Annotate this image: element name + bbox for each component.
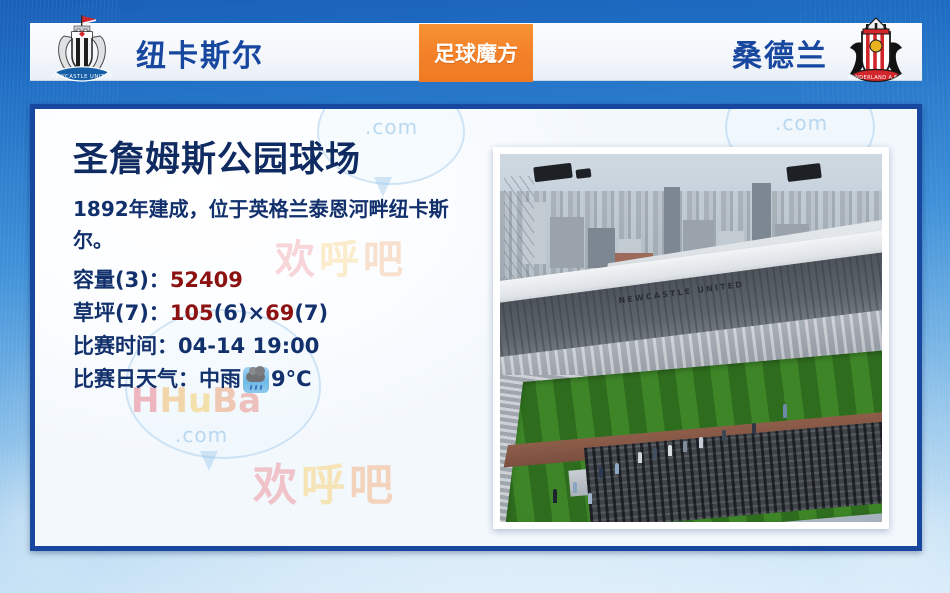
match-time-row: 比赛时间：04-14 19:00 (73, 330, 483, 363)
stadium-info-panel: .com .com HHuBa .com 欢呼吧 欢呼吧 圣詹姆斯公园球场 18… (30, 104, 922, 551)
capacity-label: 容量(3)： (73, 268, 170, 292)
away-team-name: 桑德兰 (732, 31, 828, 75)
weather-temperature: 9°C (271, 363, 312, 396)
pitch-length-rank: (6) (214, 301, 248, 325)
capacity-value: 52409 (170, 268, 243, 292)
watermark-dotcom-top: .com (365, 115, 418, 139)
capacity-row: 容量(3)：52409 (73, 264, 483, 297)
svg-text:SUNDERLAND A.F.C.: SUNDERLAND A.F.C. (847, 75, 904, 81)
rain-cloud-icon (243, 367, 269, 393)
pitch-separator: × (247, 301, 265, 325)
match-time-label: 比赛时间： (73, 334, 178, 358)
weather-label: 比赛日天气： (73, 363, 199, 396)
stadium-info-column: 圣詹姆斯公园球场 1892年建成，位于英格兰泰恩河畔纽卡斯尔。 容量(3)：52… (73, 141, 483, 396)
newcastle-united-crest: NEWCASTLE UNITED (50, 14, 114, 86)
brand-logo[interactable]: 足球魔方 (419, 24, 533, 82)
watermark-huanhuba: 欢呼吧 (253, 449, 397, 513)
pitch-width-rank: (7) (294, 301, 328, 325)
away-team-block[interactable]: 桑德兰 (542, 24, 922, 82)
home-team-name: 纽卡斯尔 (136, 31, 264, 75)
weather-condition: 中雨 (199, 363, 241, 396)
home-team-block[interactable]: NEWCASTLE UNITED 纽卡斯尔 (30, 24, 410, 82)
weather-row: 比赛日天气：中雨9°C (73, 363, 483, 396)
brand-logo-text: 足球魔方 (434, 38, 518, 68)
match-header-bar: NEWCASTLE UNITED 纽卡斯尔 足球魔方 桑德兰 (30, 23, 922, 81)
stadium-title: 圣詹姆斯公园球场 (73, 141, 483, 180)
watermark-dotcom-left: .com (175, 423, 228, 447)
st-james-park-photo[interactable]: NEWCASTLE UNITED (493, 147, 889, 529)
page-root: NEWCASTLE UNITED 纽卡斯尔 足球魔方 桑德兰 (0, 0, 950, 593)
sunderland-afc-crest: SUNDERLAND A.F.C. (844, 14, 908, 86)
stadium-description: 1892年建成，位于英格兰泰恩河畔纽卡斯尔。 (73, 194, 473, 256)
pitch-size-row: 草坪(7)：105(6)×69(7) (73, 297, 483, 330)
watermark-dotcom-right: .com (775, 111, 828, 135)
pitch-length: 105 (170, 301, 214, 325)
match-time-value: 04-14 19:00 (178, 334, 319, 358)
pitch-width: 69 (265, 301, 294, 325)
pitch-label: 草坪(7)： (73, 301, 170, 325)
svg-text:NEWCASTLE UNITED: NEWCASTLE UNITED (51, 74, 112, 80)
